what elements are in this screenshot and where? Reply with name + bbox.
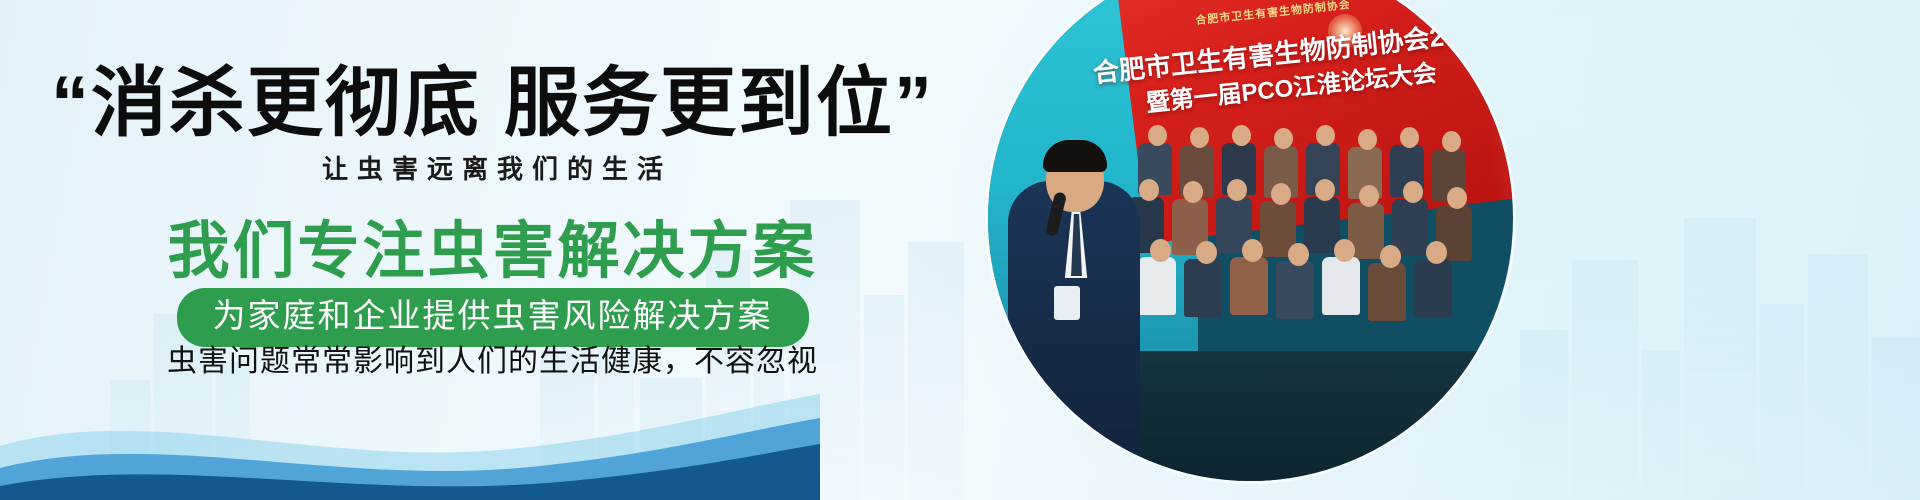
speaker-id-badge [1054, 286, 1080, 320]
banner-headline: “消杀更彻底 服务更到位” [0, 56, 985, 152]
banner-green-heading: 我们专注虫害解决方案 [0, 212, 985, 292]
speaker-hair [1043, 140, 1107, 172]
banner-pill-badge: 为家庭和企业提供虫害风险解决方案 [177, 288, 809, 347]
banner-pill-container: 为家庭和企业提供虫害风险解决方案 [0, 288, 985, 347]
banner-copy-block: “消杀更彻底 服务更到位” 让虫害远离我们的生活 我们专注虫害解决方案 为家庭和… [0, 0, 985, 500]
banner-caption: 虫害问题常常影响到人们的生活健康，不容忽视 [0, 342, 985, 382]
banner-subtitle: 让虫害远离我们的生活 [0, 152, 985, 186]
promo-banner: “消杀更彻底 服务更到位” 让虫害远离我们的生活 我们专注虫害解决方案 为家庭和… [0, 0, 1920, 500]
conference-photo: 合肥市卫生有害生物防制协会 合肥市卫生有害生物防制协会2023 暨第一届PCO江… [988, 0, 1513, 481]
